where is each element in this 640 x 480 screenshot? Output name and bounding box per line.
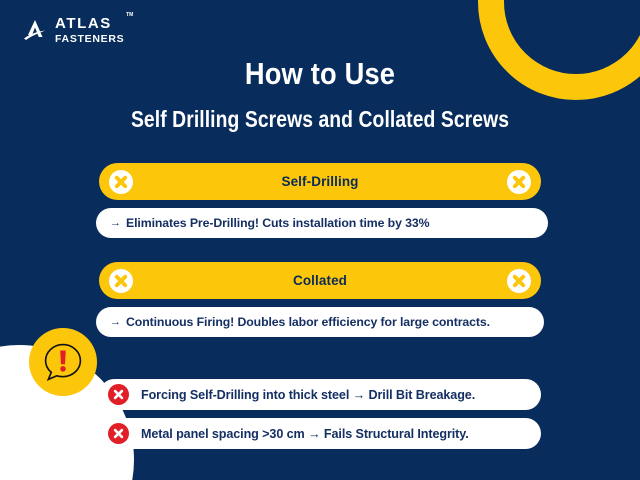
- section-bar-label: Collated: [133, 273, 507, 288]
- brand-name-top-label: ATLAS: [55, 15, 112, 32]
- infographic-canvas: ATLAS TM FASTENERS How to Use Self Drill…: [0, 0, 640, 480]
- x-circle-red-icon: [108, 384, 129, 405]
- trademark-symbol: TM: [126, 13, 133, 18]
- x-circle-icon: [507, 269, 531, 293]
- brand-logo-text: ATLAS TM FASTENERS: [55, 16, 124, 45]
- warning-text: Metal panel spacing >30 cm → Fails Struc…: [141, 427, 469, 441]
- arrow-right-icon: →: [110, 316, 121, 328]
- x-circle-icon: [507, 170, 531, 194]
- x-circle-red-icon: [108, 423, 129, 444]
- brand-name-bottom: FASTENERS: [55, 34, 124, 45]
- info-pill-text: Continuous Firing! Doubles labor efficie…: [126, 315, 490, 329]
- section-bar-label: Self-Drilling: [133, 174, 507, 189]
- info-pill-collated: → Continuous Firing! Doubles labor effic…: [96, 307, 544, 337]
- alert-exclamation-bubble-icon: [41, 340, 85, 384]
- page-subtitle: Self Drilling Screws and Collated Screws: [51, 106, 589, 133]
- x-circle-icon: [109, 269, 133, 293]
- info-pill-text: Eliminates Pre-Drilling! Cuts installati…: [126, 216, 429, 230]
- brand-name-top: ATLAS TM: [55, 16, 124, 31]
- info-pill-self-drilling: → Eliminates Pre-Drilling! Cuts installa…: [96, 208, 548, 238]
- warning-row: Metal panel spacing >30 cm → Fails Struc…: [99, 418, 541, 449]
- brand-logo: ATLAS TM FASTENERS: [22, 16, 124, 45]
- alert-badge: [29, 328, 97, 396]
- section-bar-self-drilling: Self-Drilling: [99, 163, 541, 200]
- section-bar-collated: Collated: [99, 262, 541, 299]
- arrow-right-icon: →: [110, 217, 121, 229]
- x-circle-icon: [109, 170, 133, 194]
- warning-row: Forcing Self-Drilling into thick steel →…: [99, 379, 541, 410]
- atlas-a-logo-icon: [22, 17, 48, 43]
- page-title: How to Use: [38, 56, 601, 92]
- warning-text: Forcing Self-Drilling into thick steel →…: [141, 388, 475, 402]
